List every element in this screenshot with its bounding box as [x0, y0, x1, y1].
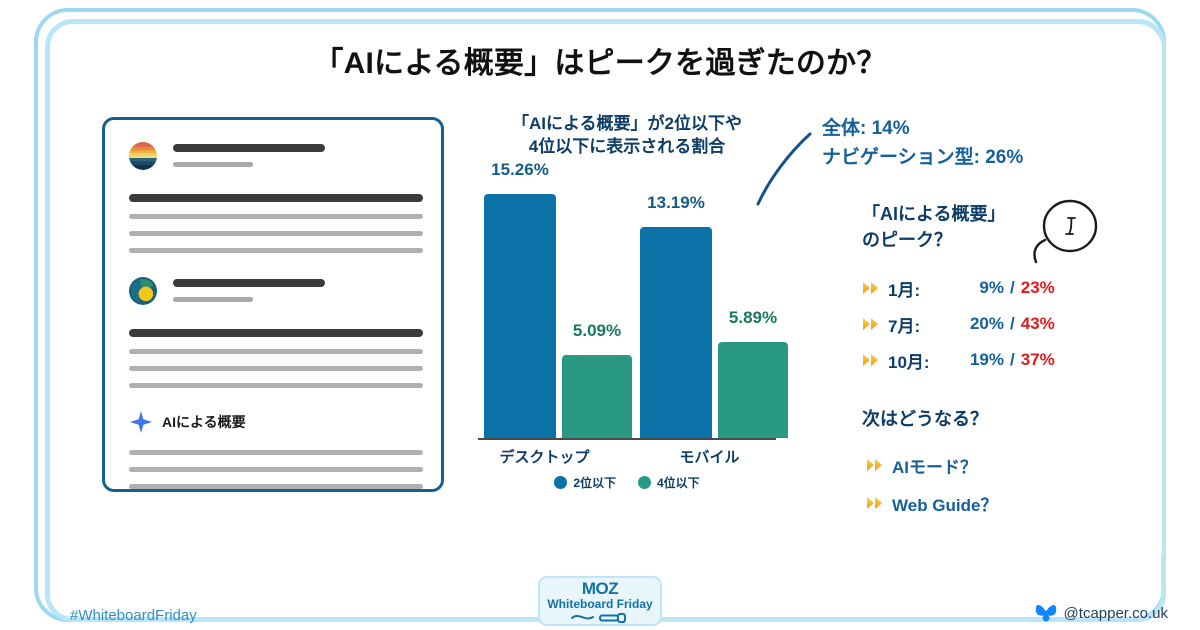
ai-overview-row[interactable]: AIによる概要	[129, 410, 423, 434]
next-items-list: AIモード？ Web Guide？	[866, 446, 1116, 522]
sunset-circle-favicon-icon	[129, 142, 157, 170]
text-placeholder-grey	[129, 450, 423, 455]
marker-pen-icon	[569, 611, 631, 623]
peak-heading: 「AIによる概要」 のピーク？	[862, 201, 1005, 253]
text-placeholder-dark	[129, 329, 423, 337]
ai-sparkle-icon	[129, 410, 153, 434]
chevron-right-double-icon	[862, 353, 882, 367]
text-placeholder-grey	[129, 248, 423, 253]
page-title: 「AIによる概要」はピークを過ぎたのか？	[0, 38, 1200, 82]
month-row-jan: 1月: 9% / 23%	[862, 270, 1112, 306]
connector-curve-icon	[750, 112, 820, 212]
legend-swatch-green-icon	[638, 476, 651, 489]
whiteboard-friday-text: Whiteboard Friday	[547, 598, 652, 610]
next-heading: 次はどうなる？	[862, 405, 988, 431]
text-placeholder-grey	[129, 366, 423, 371]
bar-label-mobile-top4: 5.89%	[708, 308, 798, 328]
result-url-placeholder	[173, 297, 253, 302]
month-row-jul: 7月: 20% / 43%	[862, 306, 1112, 342]
bar-mobile-top2[interactable]	[640, 227, 712, 438]
chart-plot-area: 15.26% 5.09% 13.19% 5.89%	[462, 184, 792, 440]
text-placeholder-grey	[129, 349, 423, 354]
next-item-label: AIモード？	[892, 453, 977, 478]
bluesky-butterfly-icon	[1035, 604, 1057, 623]
bar-desktop-top4[interactable]	[562, 355, 632, 438]
chevron-right-double-icon	[862, 281, 882, 295]
category-label-desktop: デスクトップ	[462, 446, 627, 467]
month-separator-oct: /	[1004, 350, 1021, 370]
hand-drawn-circle-note-icon	[1028, 196, 1100, 276]
month-value1-jul: 20%	[946, 314, 1004, 334]
stat-overall: 全体: 14%	[822, 114, 1023, 143]
text-placeholder-grey	[129, 231, 423, 236]
text-placeholder-grey	[129, 484, 423, 489]
bar-chart: 「AIによる概要」が2位以下や 4位以下に表示される割合 15.26% 5.09…	[462, 112, 792, 492]
stat-navigational: ナビゲーション型: 26%	[822, 143, 1023, 172]
month-label-jan: 1月:	[888, 276, 946, 301]
chevron-right-double-icon	[866, 458, 886, 472]
serp-mockup-panel: AIによる概要	[102, 117, 444, 492]
text-placeholder-grey	[129, 214, 423, 219]
month-label-oct: 10月:	[888, 348, 946, 373]
chevron-right-double-icon	[866, 496, 886, 510]
legend-label-top2: 2位以下	[573, 474, 616, 491]
text-placeholder-grey	[129, 383, 423, 388]
legend-label-top4: 4位以下	[657, 474, 700, 491]
chart-legend: 2位以下 4位以下	[462, 474, 792, 491]
next-item-label: Web Guide？	[892, 491, 997, 516]
legend-item-top2[interactable]: 2位以下	[554, 474, 616, 491]
social-handle-text: @tcapper.co.uk	[1064, 605, 1168, 622]
peak-month-rows: 1月: 9% / 23% 7月: 20% / 43% 10月: 19% / 37…	[862, 270, 1112, 378]
serp-result-1	[129, 140, 423, 184]
month-value2-jan: 23%	[1021, 278, 1055, 298]
chart-title: 「AIによる概要」が2位以下や 4位以下に表示される割合	[462, 112, 792, 159]
bar-mobile-top4[interactable]	[718, 342, 788, 438]
category-label-mobile: モバイル	[627, 446, 792, 467]
text-placeholder-dark	[129, 194, 423, 202]
month-separator-jan: /	[1004, 278, 1021, 298]
hashtag-label: #WhiteboardFriday	[70, 607, 197, 624]
serp-result-2	[129, 275, 423, 319]
legend-item-top4[interactable]: 4位以下	[638, 474, 700, 491]
bar-label-desktop-top2: 15.26%	[474, 160, 566, 180]
legend-swatch-blue-icon	[554, 476, 567, 489]
ai-overview-label: AIによる概要	[162, 412, 246, 432]
month-value1-jan: 9%	[946, 278, 1004, 298]
chart-x-axis	[478, 438, 776, 440]
result-url-placeholder	[173, 162, 253, 167]
chart-category-labels: デスクトップ モバイル	[462, 446, 792, 467]
result-title-placeholder	[173, 279, 325, 287]
bar-desktop-top2[interactable]	[484, 194, 556, 438]
headline-stats: 全体: 14% ナビゲーション型: 26%	[822, 114, 1023, 173]
text-placeholder-grey	[129, 467, 423, 472]
social-handle[interactable]: @tcapper.co.uk	[1035, 604, 1168, 623]
slide-canvas: 「AIによる概要」はピークを過ぎたのか？	[0, 0, 1200, 630]
next-item-web-guide: Web Guide？	[866, 484, 1116, 522]
moz-logo-text: MOZ	[582, 580, 618, 597]
month-label-jul: 7月:	[888, 312, 946, 337]
bar-label-desktop-top4: 5.09%	[552, 321, 642, 341]
month-row-oct: 10月: 19% / 37%	[862, 342, 1112, 378]
month-value1-oct: 19%	[946, 350, 1004, 370]
moz-whiteboard-friday-badge: MOZ Whiteboard Friday	[538, 576, 662, 626]
month-value2-jul: 43%	[1021, 314, 1055, 334]
month-separator-jul: /	[1004, 314, 1021, 334]
chevron-right-double-icon	[862, 317, 882, 331]
bar-label-mobile-top2: 13.19%	[630, 193, 722, 213]
month-value2-oct: 37%	[1021, 350, 1055, 370]
blue-yellow-circle-favicon-icon	[129, 277, 157, 305]
next-item-ai-mode: AIモード？	[866, 446, 1116, 484]
result-title-placeholder	[173, 144, 325, 152]
